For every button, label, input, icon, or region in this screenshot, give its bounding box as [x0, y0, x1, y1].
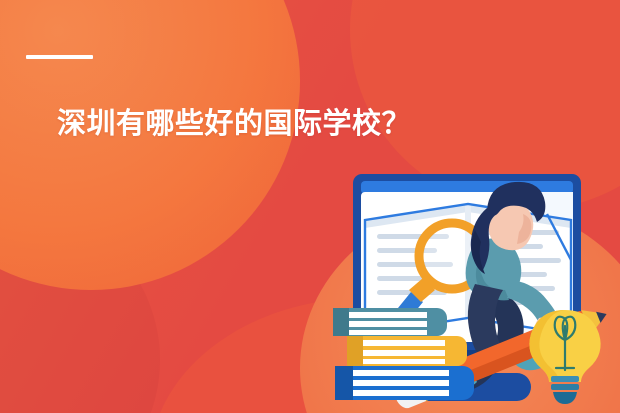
- lightbulb-icon: [529, 310, 600, 404]
- online-research-illustration: [325, 168, 620, 413]
- page-title: 深圳有哪些好的国际学校？: [57, 107, 411, 141]
- article-cover-banner: 深圳有哪些好的国际学校？: [0, 0, 620, 413]
- accent-rule: [26, 55, 93, 59]
